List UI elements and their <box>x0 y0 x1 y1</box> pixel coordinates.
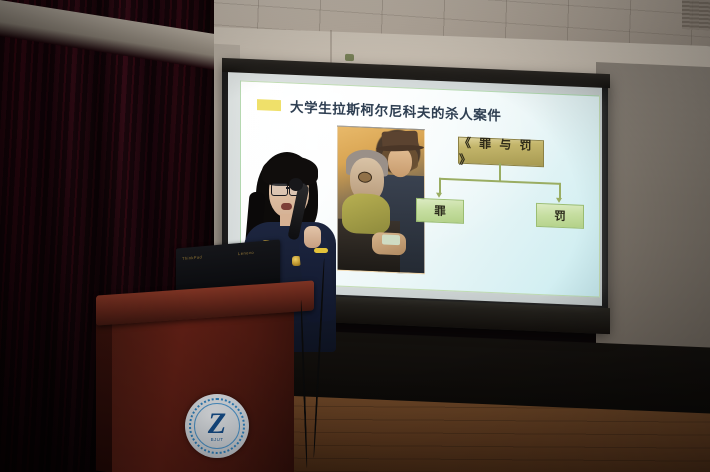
diagram-left-arm <box>439 178 441 194</box>
slide-title: 大学生拉斯柯尔尼科夫的杀人案件 <box>290 96 502 125</box>
wall-marking <box>345 54 354 61</box>
university-seal-emblem: Z BJUT <box>185 394 249 458</box>
slide-photo <box>337 126 425 275</box>
presenter-mouth <box>281 203 292 210</box>
photo-man-face <box>388 147 412 178</box>
seal-subtext: BJUT <box>185 437 249 442</box>
laptop-brand-label: Lenovo <box>238 250 254 256</box>
diagram-root-label: 《 罪 与 罚 》 <box>459 133 543 171</box>
photo-woman-scarf <box>342 193 390 235</box>
diagram-left-arrowhead-icon <box>436 193 442 198</box>
laptop-badge: ThinkPad <box>182 254 202 261</box>
diagram-right-arm <box>559 183 561 199</box>
diagram-child-node-crime: 罪 <box>416 198 464 224</box>
photo-woman-glasses-icon <box>358 171 372 183</box>
photo-held-object <box>382 234 400 245</box>
diagram-child-label-punishment: 罚 <box>554 208 566 224</box>
title-bullet-square <box>257 99 281 111</box>
seal-monogram: Z <box>185 394 249 458</box>
presenter-wristband <box>314 248 328 253</box>
diagram-child-node-punishment: 罚 <box>536 203 584 229</box>
lecture-hall-photo: 大学生拉斯柯尔尼科夫的杀人案件 《 罪 与 罚 》 罪 <box>0 0 710 472</box>
diagram-stem <box>499 163 501 181</box>
diagram-child-label-crime: 罪 <box>434 203 446 219</box>
presenter-glasses-left-icon <box>271 183 288 196</box>
slide-title-row: 大学生拉斯柯尔尼科夫的杀人案件 <box>257 94 502 124</box>
diagram-root-node: 《 罪 与 罚 》 <box>458 137 544 168</box>
diagram-right-arrowhead-icon <box>556 198 562 203</box>
presenter-hand-holding-mic <box>304 226 321 248</box>
photo-hat-brim <box>376 144 424 151</box>
